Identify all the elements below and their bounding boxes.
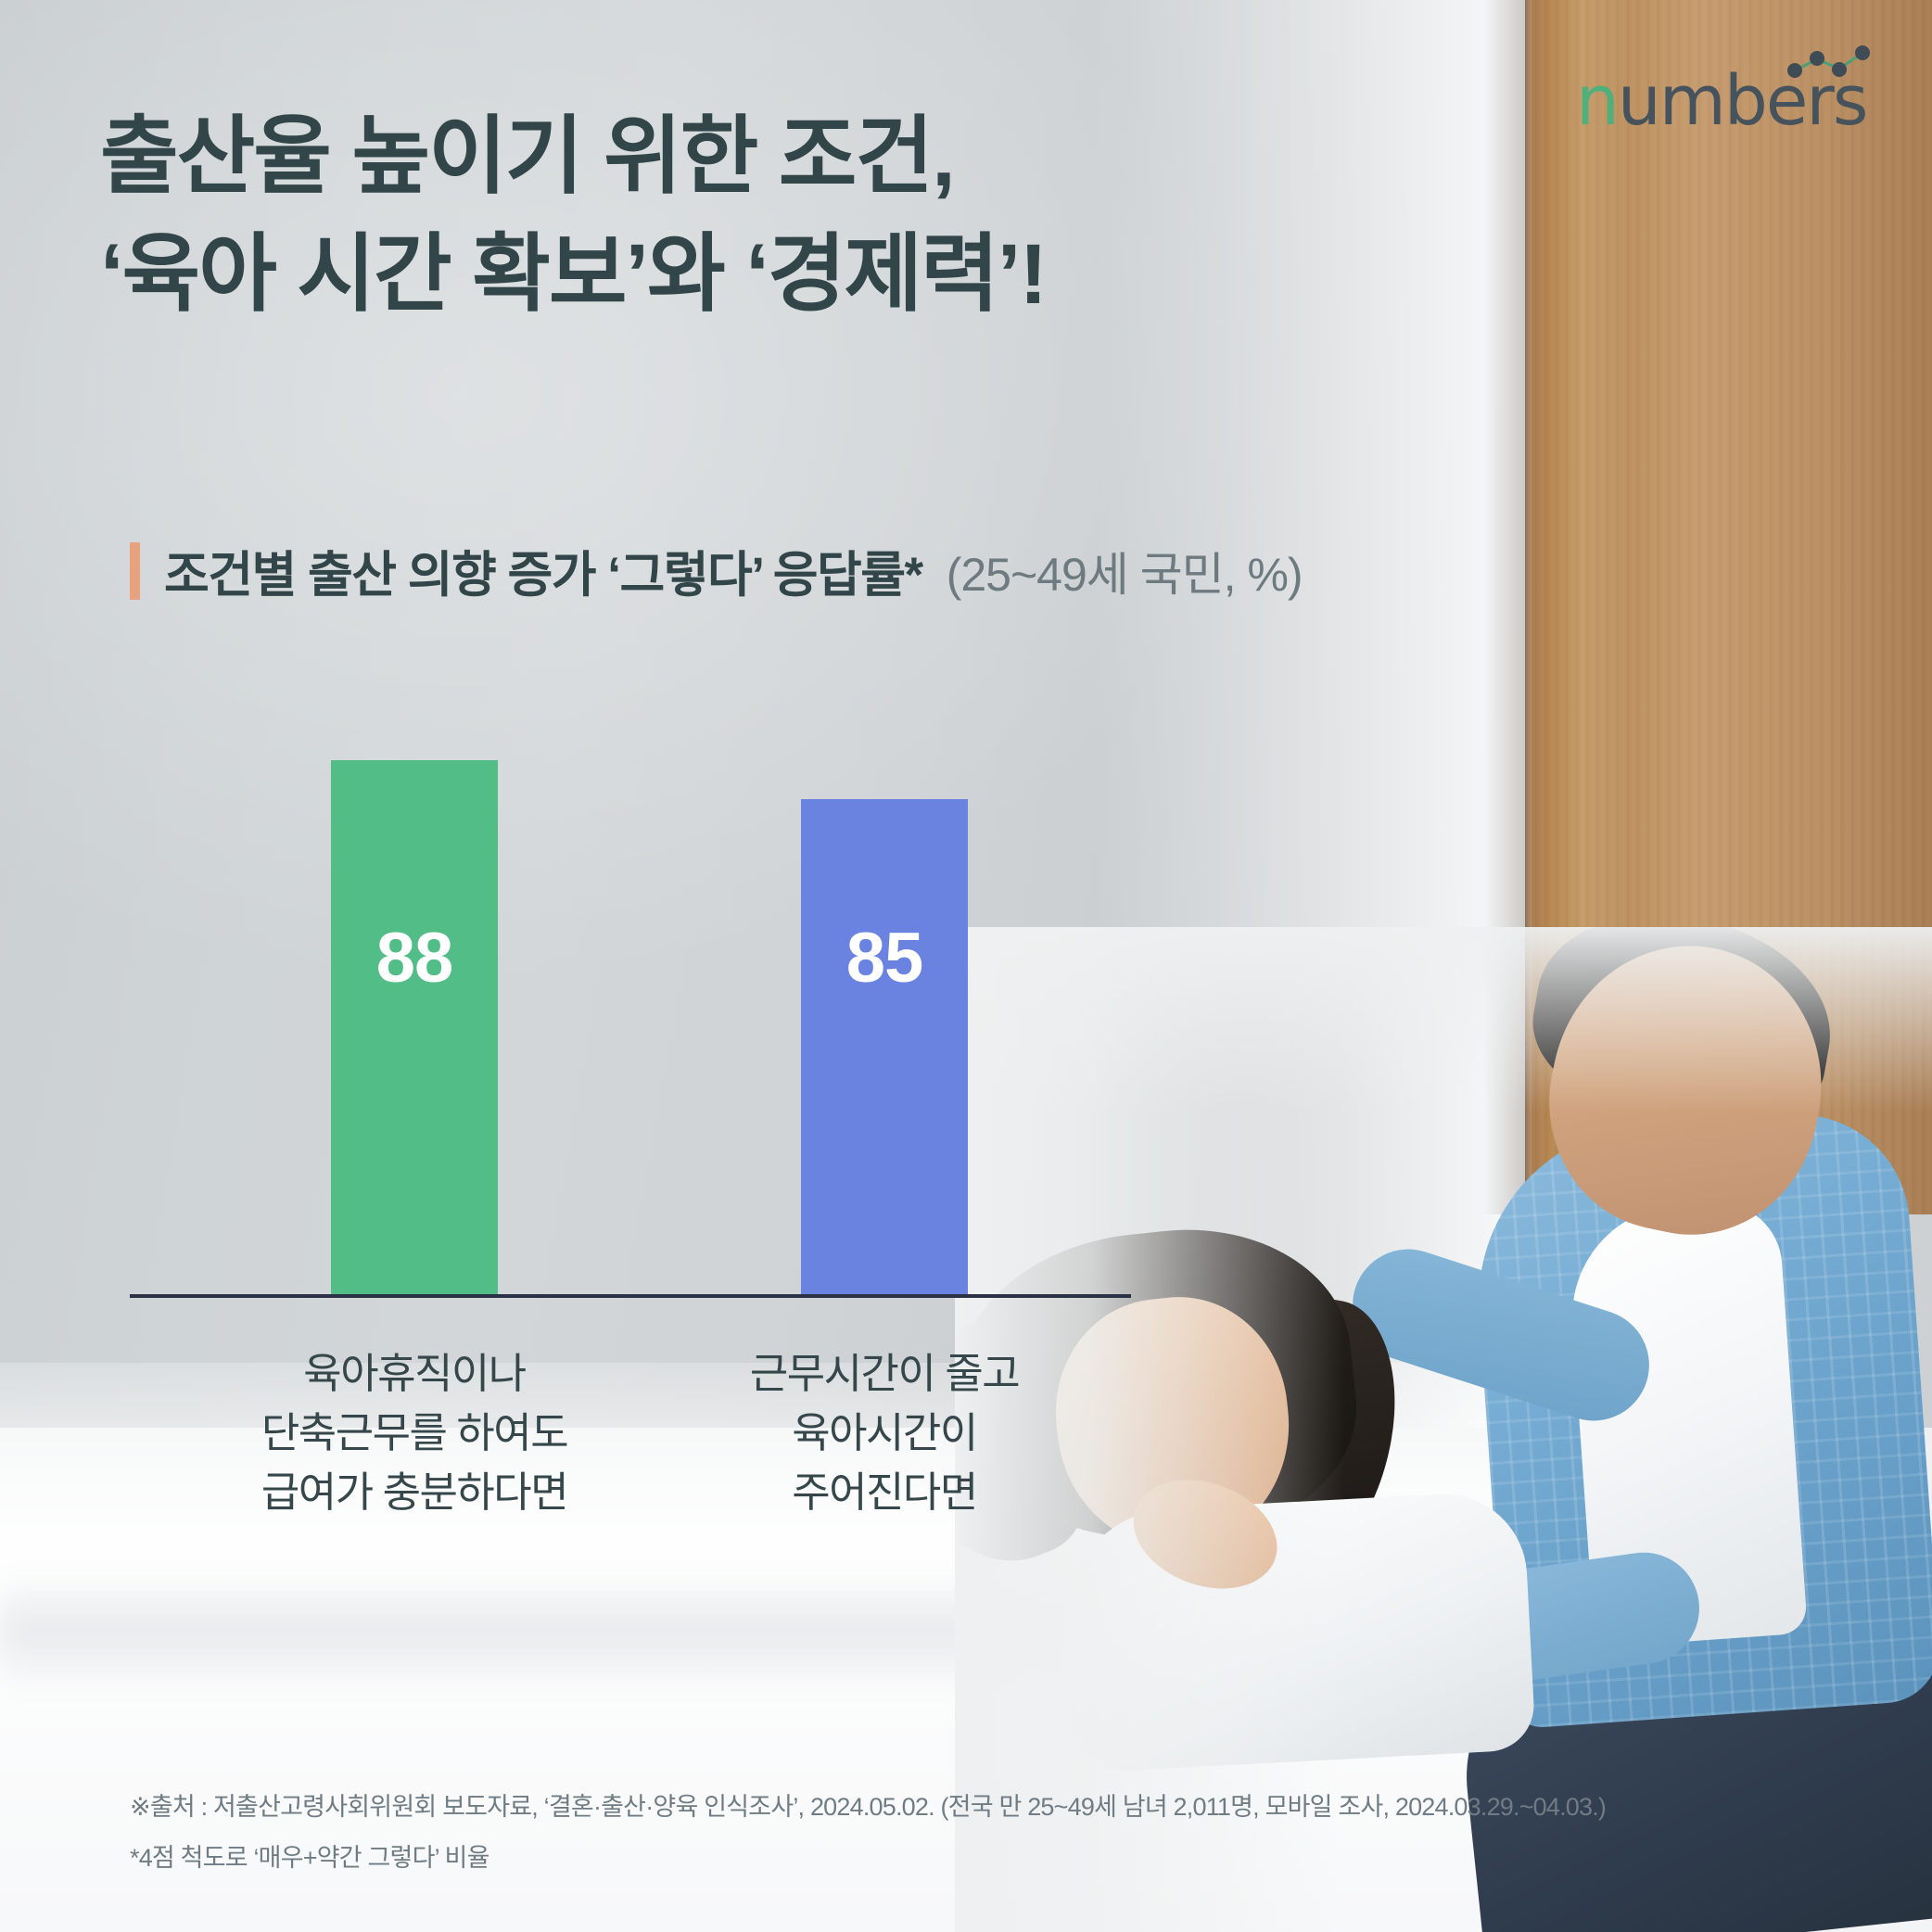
- footnote-source: ※출처 : 저출산고령사회위원회 보도자료, ‘결혼·출산·양육 인식조사’, …: [130, 1786, 1606, 1823]
- bar-group-2: 85: [801, 799, 968, 1296]
- chart-baseline: [130, 1294, 1131, 1298]
- category-2-line-3: 주어진다면: [606, 1463, 1163, 1522]
- infographic-content: numbers 출산율 높이기 위한 조건, ‘육아 시간 확보’와 ‘경제력’…: [0, 0, 1932, 1932]
- bar-chart: 88 85 육아휴직이나 단축근무를 하여도 급여가 충분하다면 근무시간이 줄…: [0, 0, 1932, 1932]
- category-label-2: 근무시간이 줄고 육아시간이 주어진다면: [606, 1344, 1163, 1522]
- category-2-line-1: 근무시간이 줄고: [606, 1344, 1163, 1404]
- bar-rect-2: [801, 799, 968, 1296]
- bar-rect-1: [331, 760, 498, 1296]
- bar-group-1: 88: [331, 760, 498, 1296]
- category-2-line-2: 육아시간이: [606, 1404, 1163, 1463]
- bar-value-2: 85: [801, 918, 968, 998]
- bar-value-1: 88: [331, 918, 498, 998]
- footnote-scale: *4점 척도로 ‘매우+약간 그렇다’ 비율: [130, 1837, 489, 1874]
